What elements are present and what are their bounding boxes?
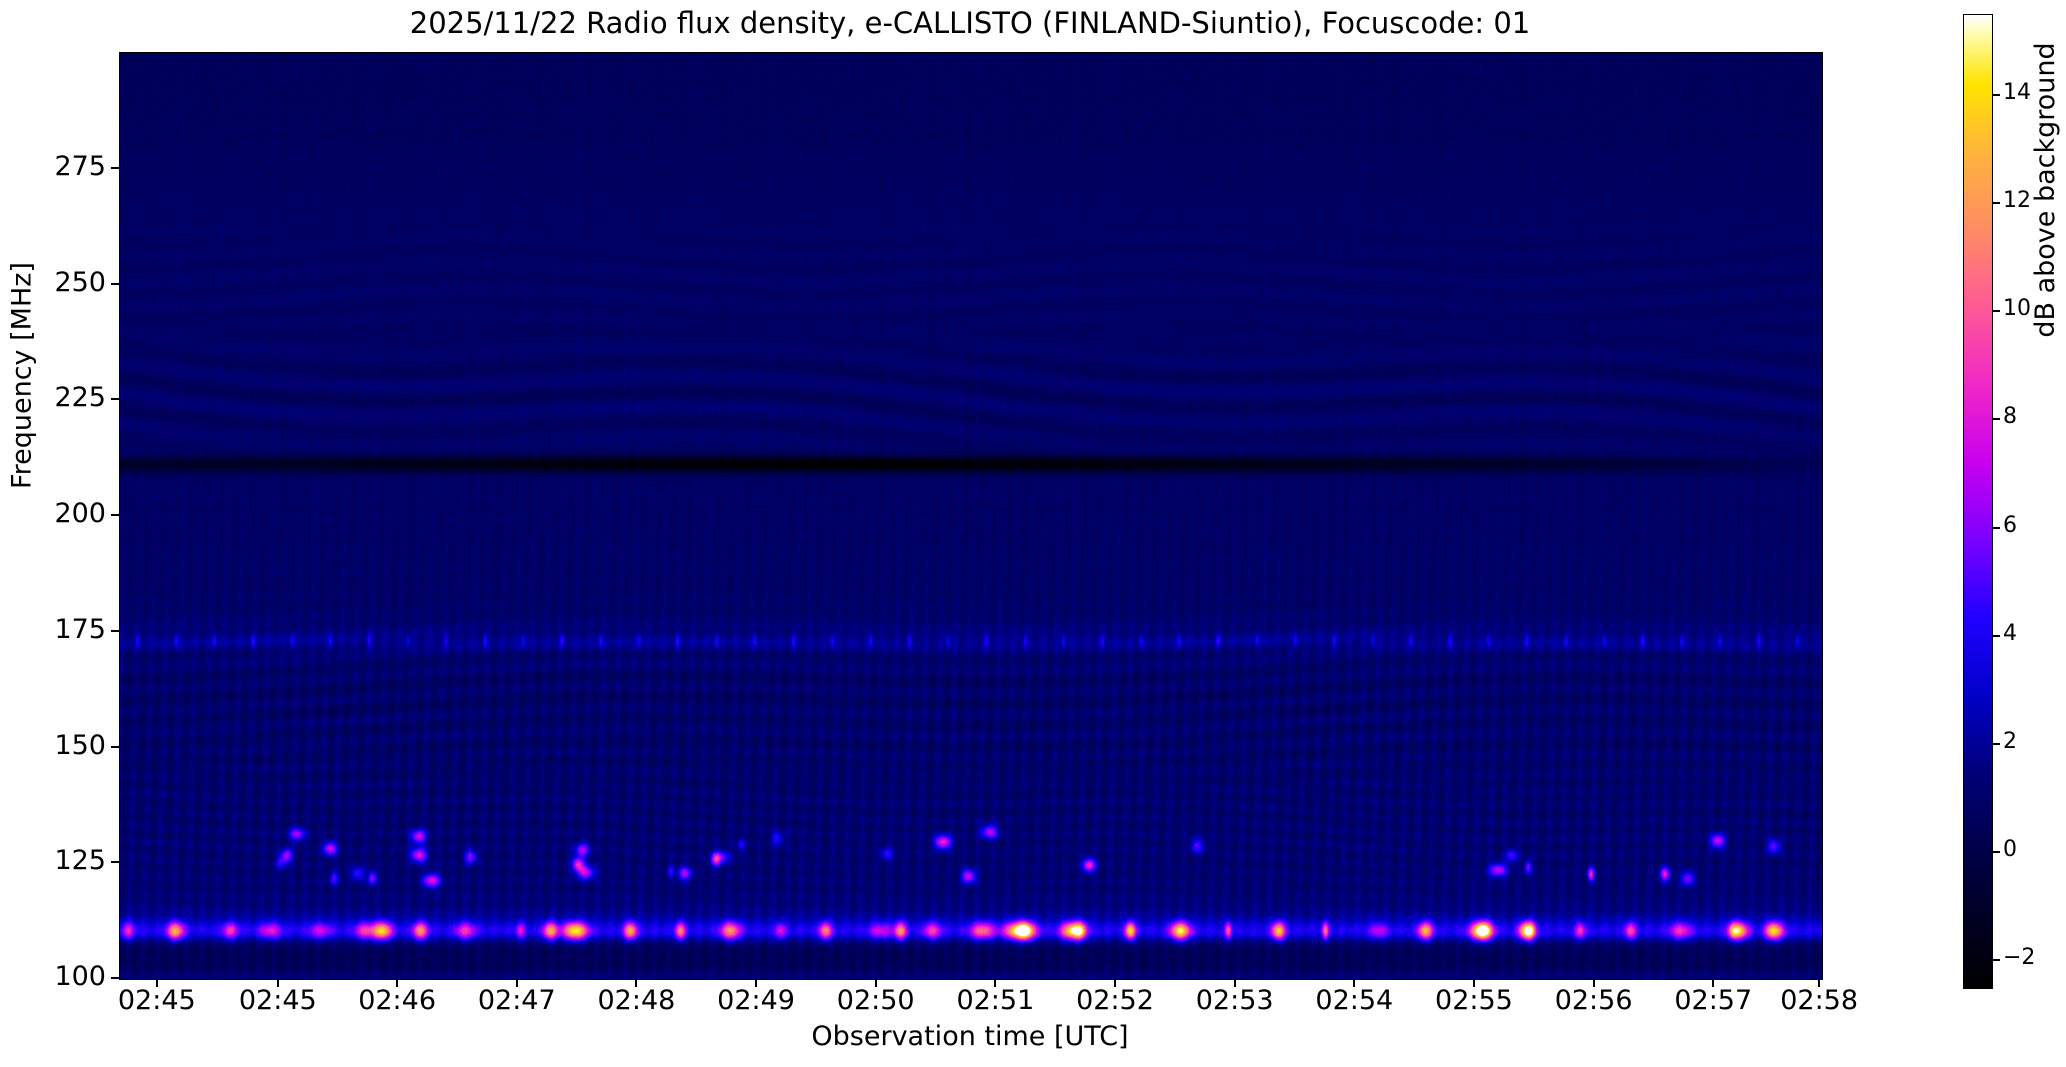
y-tick-label: 150 <box>40 730 106 761</box>
y-tick-mark <box>111 977 119 979</box>
x-tick-label: 02:49 <box>696 985 816 1016</box>
y-axis-label: Frequency [MHz] <box>7 216 38 536</box>
colorbar-tick-label: 10 <box>2003 296 2031 321</box>
y-tick-mark <box>111 283 119 285</box>
x-tick-label: 02:56 <box>1534 985 1654 1016</box>
y-tick-mark <box>111 514 119 516</box>
x-tick-label: 02:50 <box>816 985 936 1016</box>
x-tick-label: 02:48 <box>576 985 696 1016</box>
colorbar-gradient <box>1964 15 1992 988</box>
colorbar-tick-mark <box>1992 959 2000 961</box>
colorbar-tick-mark <box>1992 94 2000 96</box>
colorbar-label: dB above background <box>2030 0 2061 500</box>
x-tick-label: 02:55 <box>1414 985 1534 1016</box>
colorbar-tick-mark <box>1992 635 2000 637</box>
colorbar-tick-label: 12 <box>2003 188 2031 213</box>
x-tick-label: 02:51 <box>935 985 1055 1016</box>
colorbar-tick-mark <box>1992 418 2000 420</box>
x-axis-label: Observation time [UTC] <box>119 1021 1821 1052</box>
x-tick-label: 02:45 <box>218 985 338 1016</box>
colorbar-tick-mark <box>1992 310 2000 312</box>
figure-title: 2025/11/22 Radio flux density, e-CALLIST… <box>119 6 1821 40</box>
x-tick-label: 02:45 <box>97 985 217 1016</box>
y-tick-mark <box>111 167 119 169</box>
y-tick-mark <box>111 861 119 863</box>
y-tick-label: 250 <box>40 267 106 298</box>
colorbar-tick-mark <box>1992 527 2000 529</box>
colorbar-tick-label: 14 <box>2003 80 2031 105</box>
spectrogram-canvas[interactable] <box>120 53 1822 979</box>
colorbar[interactable] <box>1963 14 1993 989</box>
y-tick-label: 275 <box>40 151 106 182</box>
colorbar-tick-label: 2 <box>2003 729 2017 754</box>
y-tick-label: 225 <box>40 382 106 413</box>
x-tick-label: 02:57 <box>1653 985 1773 1016</box>
x-tick-label: 02:47 <box>457 985 577 1016</box>
colorbar-tick-mark <box>1992 851 2000 853</box>
colorbar-tick-mark <box>1992 743 2000 745</box>
figure-root: 2025/11/22 Radio flux density, e-CALLIST… <box>0 0 2066 1067</box>
colorbar-tick-label: 6 <box>2003 513 2017 538</box>
y-tick-mark <box>111 398 119 400</box>
x-tick-label: 02:46 <box>337 985 457 1016</box>
x-tick-label: 02:52 <box>1055 985 1175 1016</box>
y-tick-label: 200 <box>40 498 106 529</box>
colorbar-tick-label: 4 <box>2003 621 2017 646</box>
x-tick-label: 02:58 <box>1759 985 1879 1016</box>
colorbar-tick-label: 8 <box>2003 404 2017 429</box>
y-tick-mark <box>111 746 119 748</box>
x-tick-label: 02:54 <box>1294 985 1414 1016</box>
colorbar-tick-mark <box>1992 202 2000 204</box>
spectrogram-plot[interactable] <box>119 52 1823 980</box>
y-tick-label: 125 <box>40 845 106 876</box>
y-tick-label: 175 <box>40 614 106 645</box>
colorbar-tick-label: 0 <box>2003 837 2017 862</box>
colorbar-tick-label: −2 <box>2003 945 2035 970</box>
y-tick-mark <box>111 630 119 632</box>
x-tick-label: 02:53 <box>1175 985 1295 1016</box>
